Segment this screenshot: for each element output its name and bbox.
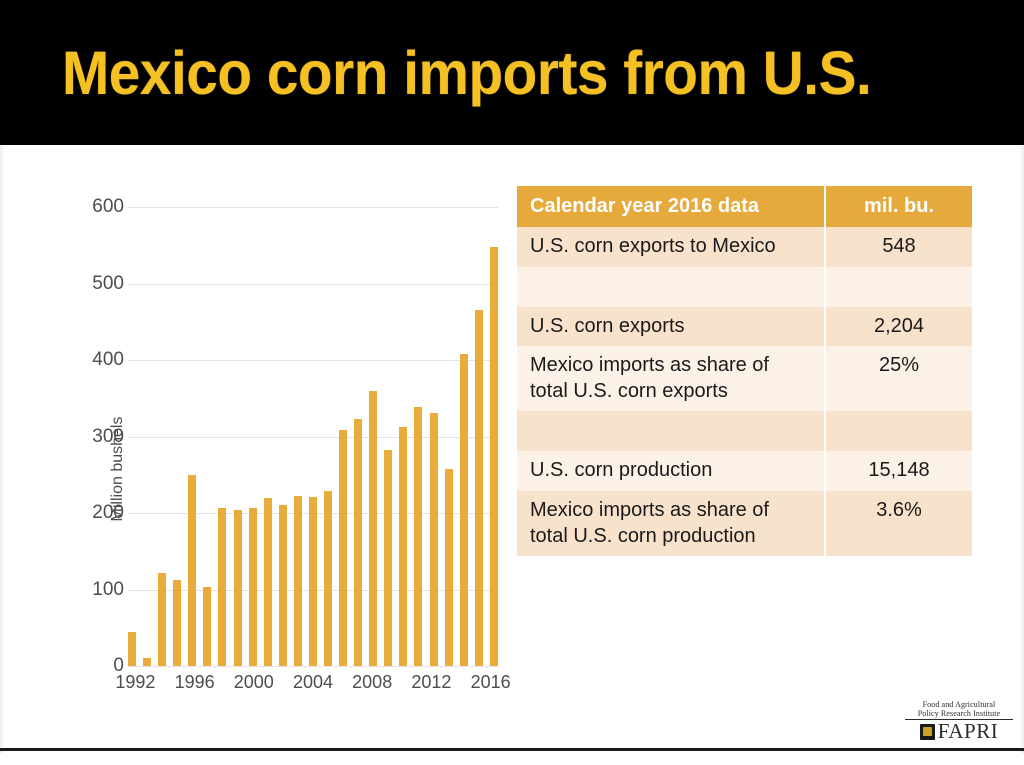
- x-axis-tick-label: 2008: [352, 672, 392, 693]
- table-head: Calendar year 2016 data mil. bu.: [517, 186, 972, 227]
- table-spacer-row: [517, 411, 972, 451]
- table-cell-label: U.S. corn production: [517, 451, 825, 491]
- chart-bar: [445, 469, 453, 666]
- chart-bar: [369, 391, 377, 666]
- table-cell-value: 548: [825, 227, 972, 267]
- table-row: U.S. corn exports to Mexico548: [517, 227, 972, 267]
- y-axis-tick-label: 200: [64, 502, 124, 524]
- table-header-label: Calendar year 2016 data: [517, 186, 825, 227]
- fapri-tagline-line1: Food and Agricultural: [905, 700, 1013, 709]
- table-cell-label: U.S. corn exports: [517, 307, 825, 347]
- table-cell-label: U.S. corn exports to Mexico: [517, 227, 825, 267]
- chart-bar: [354, 419, 362, 666]
- chart-bar: [324, 491, 332, 666]
- chart-bar: [234, 510, 242, 666]
- fapri-wordmark-row: FAPRI: [905, 721, 1013, 742]
- y-axis-tick-label: 500: [64, 273, 124, 295]
- table-row: Mexico imports as share of total U.S. co…: [517, 346, 972, 411]
- table-cell-value: 25%: [825, 346, 972, 411]
- y-axis-tick-label: 100: [64, 579, 124, 601]
- chart-bar: [294, 496, 302, 666]
- chart-bar: [309, 497, 317, 666]
- y-axis-title: Million bushels: [109, 369, 127, 569]
- y-axis-tick-label: 600: [64, 196, 124, 218]
- x-axis-tick-label: 2000: [234, 672, 274, 693]
- fapri-logo: Food and Agricultural Policy Research In…: [905, 700, 1013, 746]
- x-axis-tick-label: 2004: [293, 672, 333, 693]
- chart-bar: [339, 430, 347, 666]
- chart-plot-area: 0100200300400500600: [128, 200, 498, 666]
- x-axis-tick-label: 2012: [411, 672, 451, 693]
- table-cell-label: [517, 411, 825, 451]
- chart-bar: [279, 505, 287, 666]
- chart-bar: [430, 413, 438, 666]
- chart-bar: [399, 427, 407, 666]
- slide-bottom-rule: [0, 748, 1024, 751]
- x-axis-tick-label: 1992: [115, 672, 155, 693]
- slide-bottom-margin: [0, 753, 1024, 765]
- chart-bar: [143, 658, 151, 666]
- x-axis-tick-label: 1996: [175, 672, 215, 693]
- chart-bar: [249, 508, 257, 666]
- page-title: Mexico corn imports from U.S.: [62, 38, 871, 108]
- chart-bar: [384, 450, 392, 666]
- table-cell-value: 3.6%: [825, 491, 972, 556]
- table-cell-value: 15,148: [825, 451, 972, 491]
- chart-bar: [414, 407, 422, 666]
- table-cell-value: 2,204: [825, 307, 972, 347]
- table-row: U.S. corn production15,148: [517, 451, 972, 491]
- chart-bar: [188, 475, 196, 666]
- table-row: Mexico imports as share of total U.S. co…: [517, 491, 972, 556]
- shield-icon-inner: [923, 727, 932, 736]
- table-cell-value: [825, 267, 972, 307]
- fapri-tagline-line2: Policy Research Institute: [905, 709, 1013, 718]
- chart-bar: [218, 508, 226, 666]
- chart-bars: [128, 207, 498, 666]
- chart-bar: [203, 587, 211, 666]
- table-header-units: mil. bu.: [825, 186, 972, 227]
- chart-bar: [490, 247, 498, 666]
- bar-chart: Million bushels 0100200300400500600 1992…: [40, 160, 510, 705]
- gridline: [128, 666, 498, 667]
- table-body: U.S. corn exports to Mexico548U.S. corn …: [517, 227, 972, 556]
- table-cell-label: [517, 267, 825, 307]
- table-cell-value: [825, 411, 972, 451]
- chart-x-axis-ticks: 1992199620002004200820122016: [128, 672, 498, 700]
- x-axis-tick-label: 2016: [471, 672, 511, 693]
- chart-bar: [158, 573, 166, 666]
- shield-icon: [920, 724, 935, 740]
- summary-table: Calendar year 2016 data mil. bu. U.S. co…: [517, 186, 972, 556]
- table-row: U.S. corn exports2,204: [517, 307, 972, 347]
- chart-bar: [173, 580, 181, 666]
- table-cell-label: Mexico imports as share of total U.S. co…: [517, 346, 825, 411]
- chart-bar: [475, 310, 483, 666]
- table-cell-label: Mexico imports as share of total U.S. co…: [517, 491, 825, 556]
- chart-bar: [264, 498, 272, 666]
- title-banner: Mexico corn imports from U.S.: [0, 0, 1024, 145]
- y-axis-tick-label: 300: [64, 426, 124, 448]
- table-header-row: Calendar year 2016 data mil. bu.: [517, 186, 972, 227]
- table-spacer-row: [517, 267, 972, 307]
- y-axis-tick-label: 400: [64, 349, 124, 371]
- chart-bar: [460, 354, 468, 666]
- chart-bar: [128, 632, 136, 666]
- fapri-wordmark: FAPRI: [938, 721, 998, 742]
- slide-root: Mexico corn imports from U.S. Million bu…: [0, 0, 1024, 765]
